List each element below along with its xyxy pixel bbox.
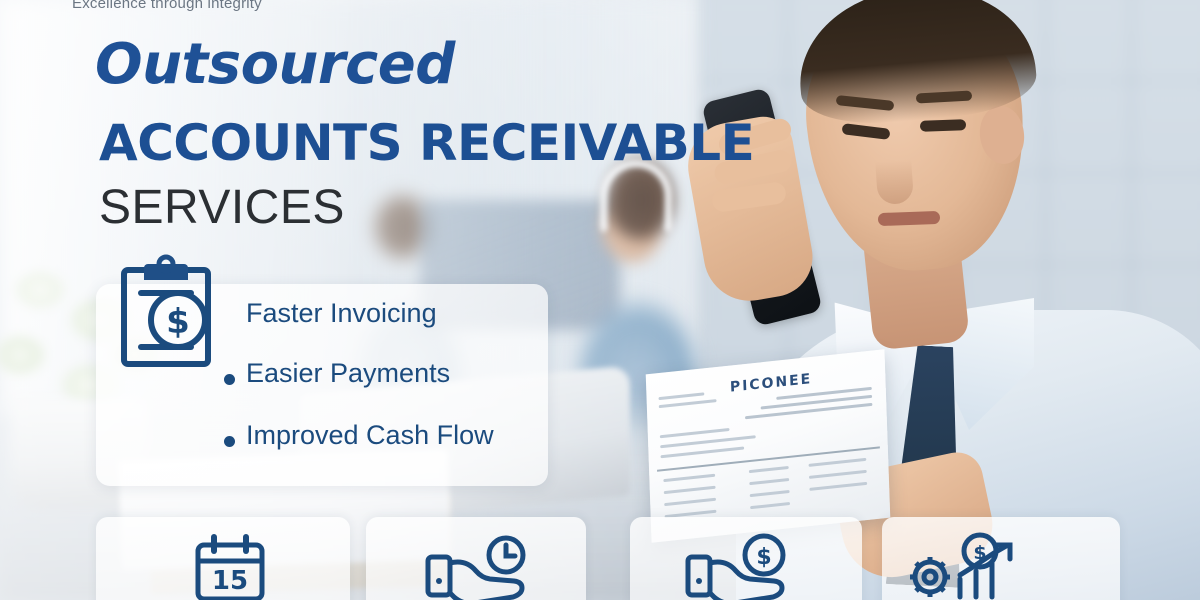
brand-tagline: Excellence through integrity xyxy=(72,0,262,12)
calendar-day-label: 15 xyxy=(212,566,248,596)
nose xyxy=(874,141,914,205)
feature-card-calendar[interactable]: 15 xyxy=(96,517,350,600)
invoice-row xyxy=(749,478,789,485)
bullet-marker xyxy=(224,374,235,385)
clipboard-dollar-icon: $ xyxy=(118,258,214,370)
benefit-item: Faster Invoicing xyxy=(246,298,437,329)
svg-text:$: $ xyxy=(166,302,190,342)
bullet-marker xyxy=(224,436,235,447)
hand-clock-icon xyxy=(418,535,538,597)
invoice-row xyxy=(749,466,789,473)
headline-eyebrow: Outsourced xyxy=(95,32,455,97)
mouth xyxy=(878,211,940,226)
feature-card-hand-clock[interactable] xyxy=(366,517,586,600)
invoice-row xyxy=(809,470,867,479)
invoice-row xyxy=(809,482,867,491)
benefit-item: Easier Payments xyxy=(246,358,450,389)
eye-right xyxy=(920,119,966,132)
invoice-row xyxy=(750,502,790,509)
hand-money-icon: $ xyxy=(678,535,798,597)
invoice-brand-text: PICONEE xyxy=(730,371,813,396)
benefit-item: Improved Cash Flow xyxy=(246,420,494,451)
invoice-row xyxy=(750,490,790,497)
page-title: ACCOUNTS RECEIVABLE xyxy=(99,114,754,172)
headline-subtitle: SERVICES xyxy=(99,180,345,235)
feature-card-growth[interactable]: $ xyxy=(882,517,1120,600)
feature-card-hand-money[interactable]: $ xyxy=(630,517,862,600)
svg-text:$: $ xyxy=(756,545,771,570)
invoice-row xyxy=(809,458,867,467)
calendar-icon: 15 xyxy=(190,535,268,597)
gear-growth-chart-icon: $ xyxy=(898,535,1028,597)
marketing-banner: PICONEE Excellence through integrity O xyxy=(0,0,1200,600)
